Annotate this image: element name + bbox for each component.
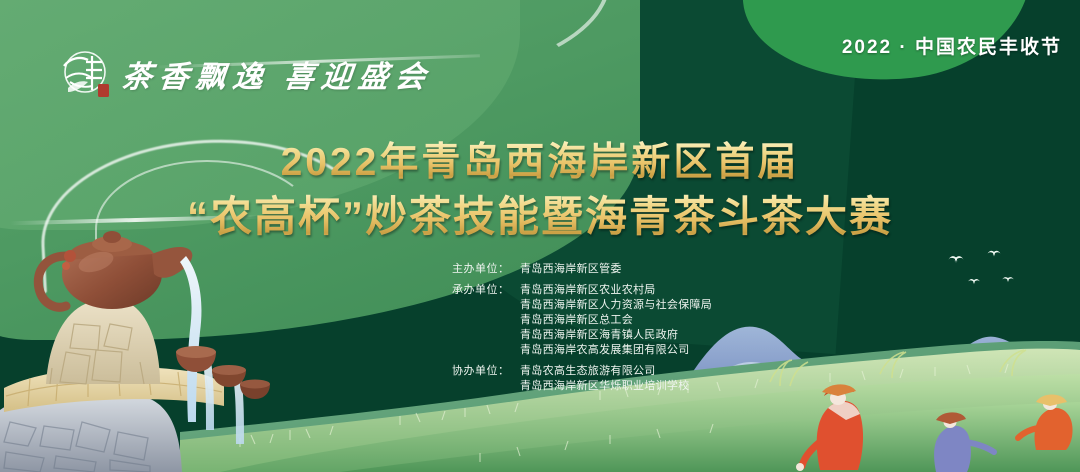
- organizer-value: 青岛西海岸新区人力资源与社会保障局: [520, 298, 712, 313]
- organizer-value: 青岛西海岸新区总工会: [520, 313, 712, 328]
- bird-icon: [968, 279, 981, 286]
- organizer-value: 青岛西海岸新区海青镇人民政府: [520, 328, 712, 343]
- organizer-value: 青岛西海岸农高发展集团有限公司: [520, 343, 712, 358]
- organizer-label: 协办单位：: [452, 364, 520, 379]
- organizer-value: 青岛农高生态旅游有限公司: [520, 364, 690, 379]
- organizer-value: 青岛西海岸新区农业农村局: [520, 283, 712, 298]
- organizer-label: 主办单位：: [452, 262, 520, 277]
- festival-tag: 2022 · 中国农民丰收节: [842, 32, 1062, 59]
- organizer-values: 青岛西海岸新区农业农村局 青岛西海岸新区人力资源与社会保障局 青岛西海岸新区总工…: [520, 283, 712, 358]
- organizer-row: 主办单位： 青岛西海岸新区管委: [452, 262, 712, 277]
- organizer-value: 青岛西海岸新区华烁职业培训学校: [520, 379, 690, 394]
- brand-lockup: 茶香飘逸 喜迎盛会: [58, 48, 433, 100]
- poster-canvas: 2022 · 中国农民丰收节 茶香飘逸 喜迎盛会 2022年青岛西海岸新区首届 …: [0, 0, 1080, 472]
- picker-red: [796, 384, 863, 471]
- tea-pickers-illustration: [750, 342, 1080, 472]
- title-block: 2022年青岛西海岸新区首届 “农高杯”炒茶技能暨海青茶斗茶大赛: [0, 140, 1080, 245]
- organizer-label: 承办单位：: [452, 283, 520, 298]
- bird-icon: [948, 256, 964, 265]
- bird-icon: [1002, 277, 1014, 284]
- picker-orange: [1018, 395, 1073, 451]
- organizers-block: 主办单位： 青岛西海岸新区管委 承办单位： 青岛西海岸新区农业农村局 青岛西海岸…: [452, 262, 712, 400]
- title-line-1: 2022年青岛西海岸新区首届: [0, 140, 1080, 186]
- title-line-2: “农高杯”炒茶技能暨海青茶斗茶大赛: [0, 190, 1080, 245]
- brand-slogan: 茶香飘逸 喜迎盛会: [120, 52, 435, 96]
- organizer-values: 青岛农高生态旅游有限公司 青岛西海岸新区华烁职业培训学校: [520, 364, 690, 394]
- organizer-row: 协办单位： 青岛农高生态旅游有限公司 青岛西海岸新区华烁职业培训学校: [452, 364, 712, 394]
- organizer-value: 青岛西海岸新区管委: [520, 262, 622, 277]
- organizer-values: 青岛西海岸新区管委: [520, 262, 622, 277]
- organizer-row: 承办单位： 青岛西海岸新区农业农村局 青岛西海岸新区人力资源与社会保障局 青岛西…: [452, 283, 712, 358]
- picker-blue: [934, 412, 994, 472]
- bird-icon: [987, 251, 1001, 259]
- haiqing-logo-icon: [58, 48, 112, 100]
